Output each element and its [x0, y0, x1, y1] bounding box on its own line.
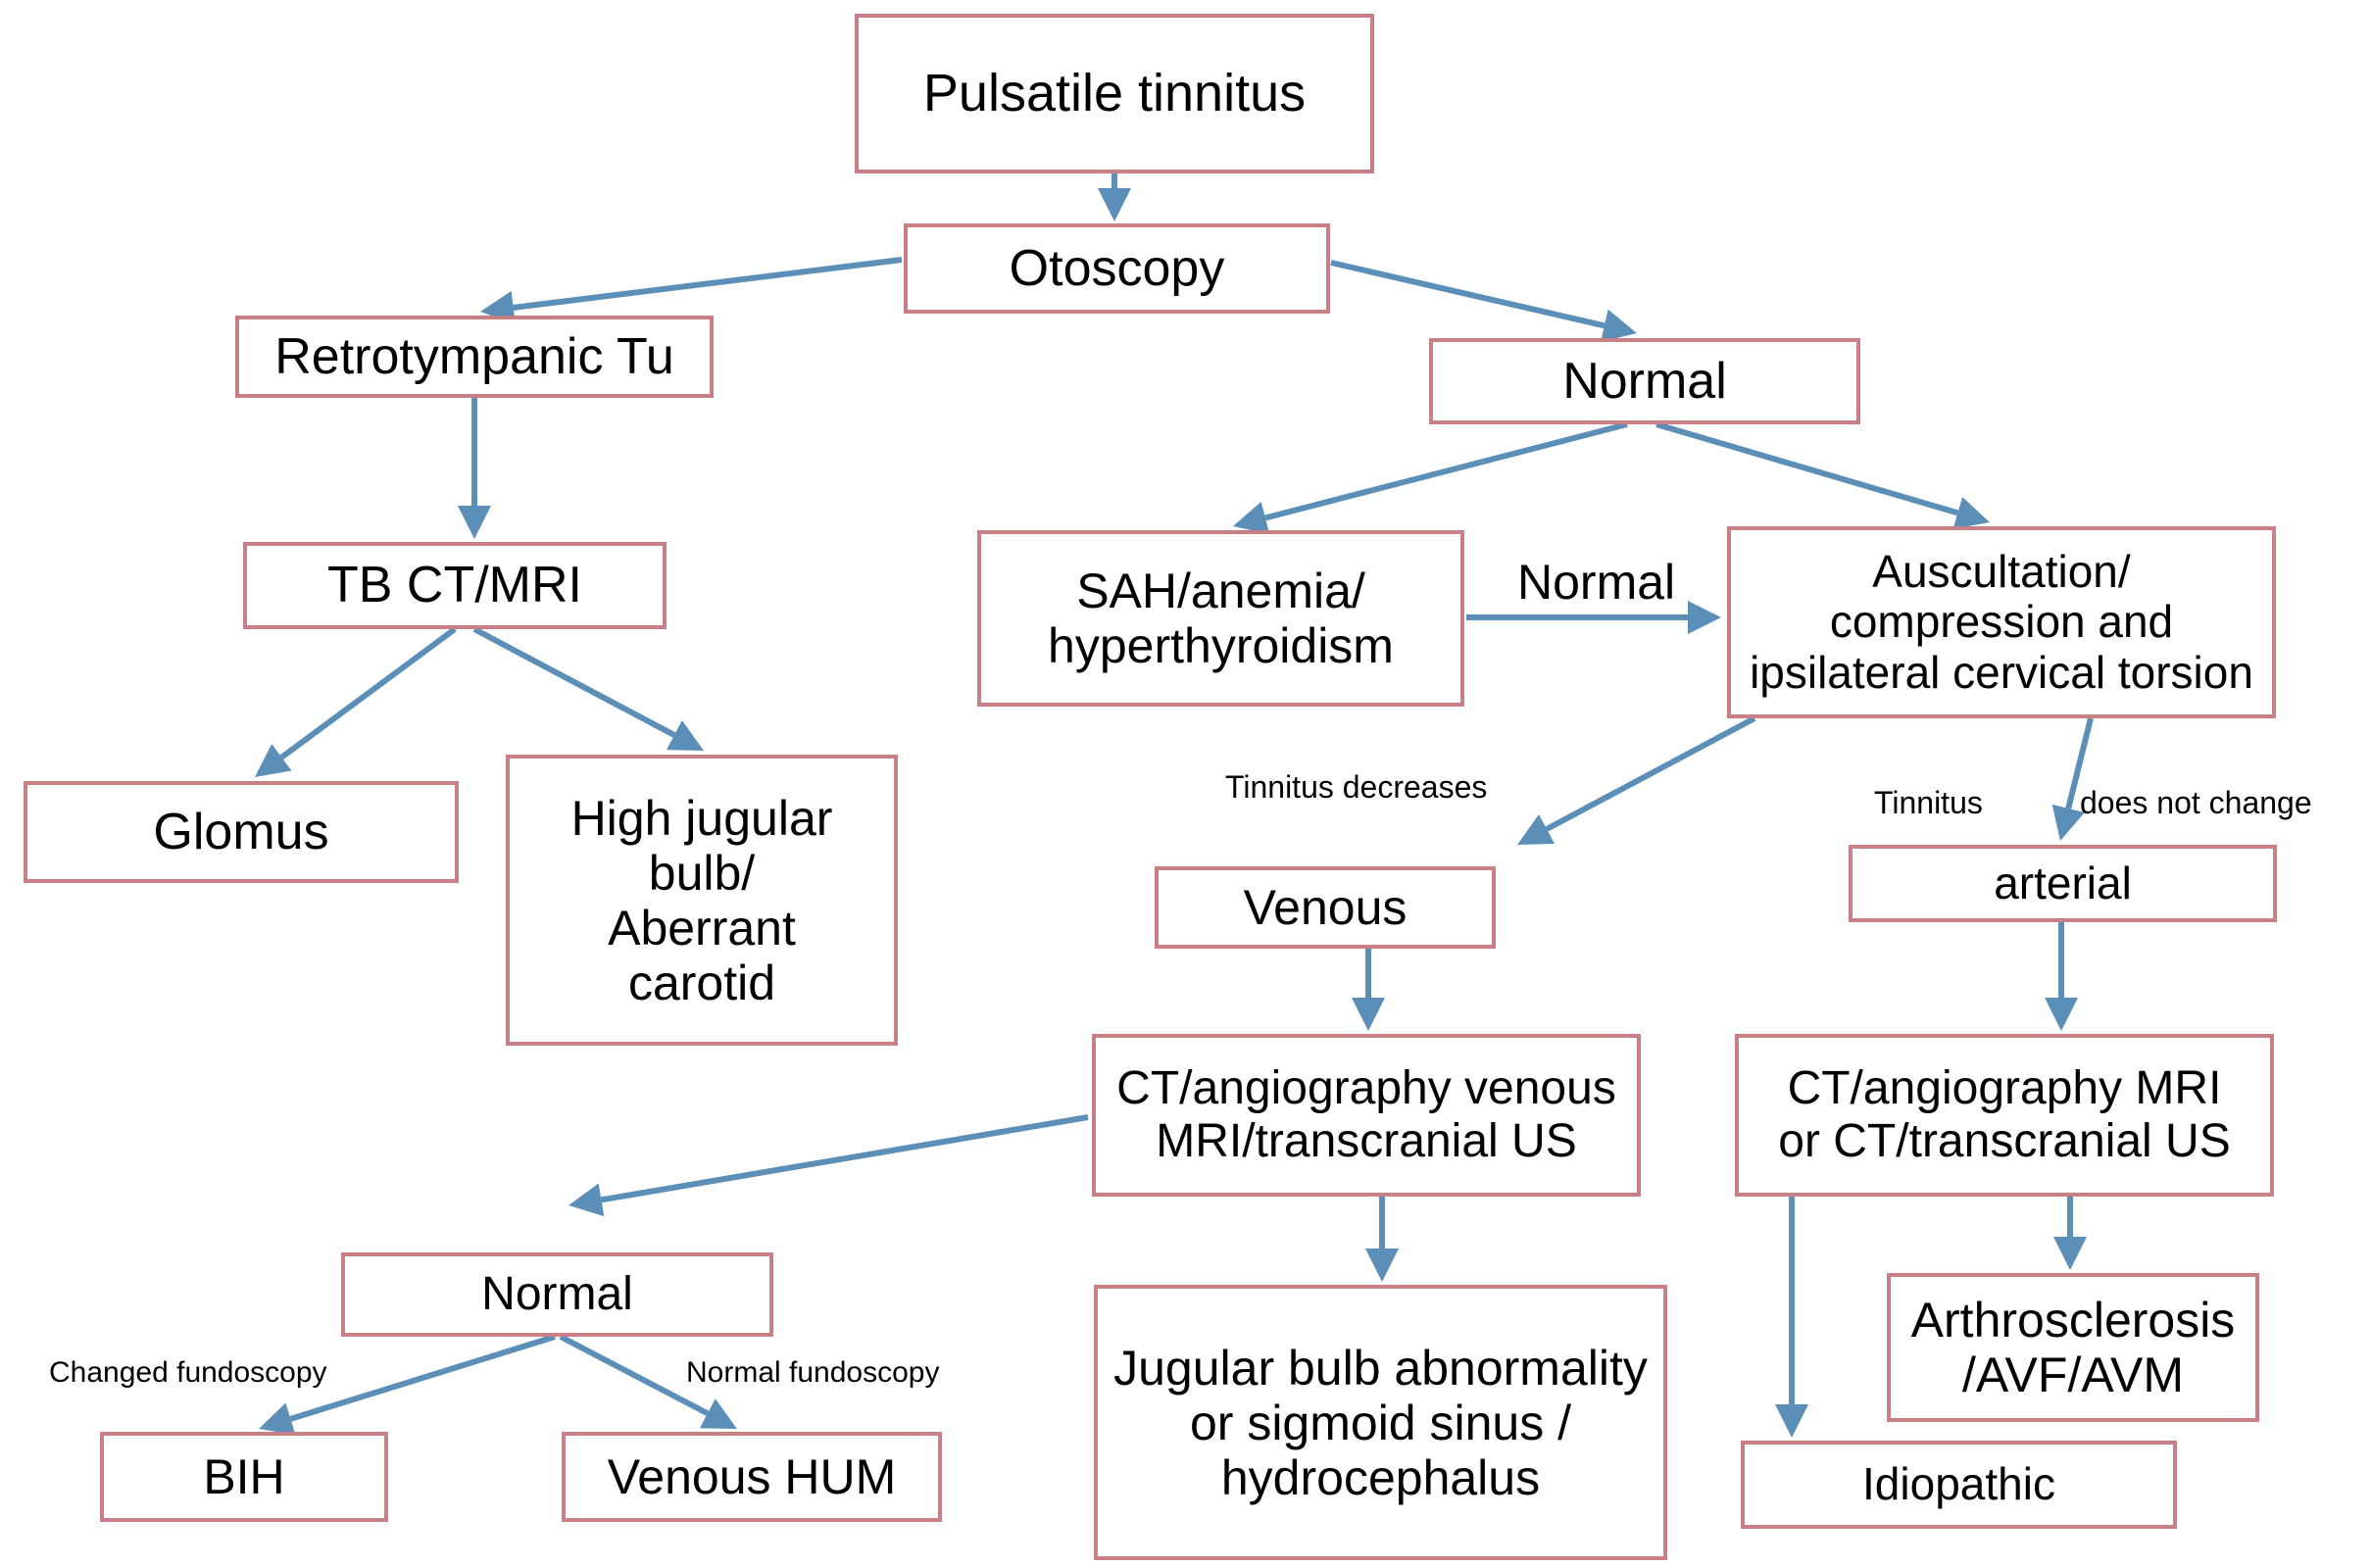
node-label: Venous: [1244, 880, 1408, 935]
node-label: Normal: [1562, 353, 1727, 410]
node-retrotympanic_tu[interactable]: Retrotympanic Tu: [235, 316, 714, 398]
node-ct_angio_arterial[interactable]: CT/angiography MRI or CT/transcranial US: [1735, 1034, 2274, 1197]
flow-arrow: [1775, 1197, 1808, 1438]
edge-label-changed_fundoscopy: Changed fundoscopy: [49, 1356, 327, 1390]
node-label: BIH: [203, 1449, 284, 1504]
edge-label-normal_mid: Normal: [1517, 554, 1675, 611]
flow-arrow: [568, 1117, 1088, 1216]
edge-label-normal_fundoscopy: Normal fundoscopy: [686, 1356, 939, 1390]
node-label: TB CT/MRI: [327, 557, 582, 613]
flow-arrow: [1517, 718, 1754, 845]
node-label: SAH/anemia/ hyperthyroidism: [1048, 563, 1394, 673]
node-normal_otoscopy[interactable]: Normal: [1429, 338, 1860, 424]
node-arterial[interactable]: arterial: [1849, 845, 2277, 922]
flow-arrow: [458, 398, 491, 539]
flowchart-canvas: Pulsatile tinnitusOtoscopyRetrotympanic …: [0, 0, 2371, 1568]
node-label: Normal: [481, 1268, 633, 1321]
flow-arrow: [2053, 1197, 2087, 1270]
flow-arrow: [1352, 949, 1385, 1031]
node-label: Auscultation/ compression and ipsilatera…: [1750, 547, 2253, 699]
node-ct_angio_venous[interactable]: CT/angiography venous MRI/transcranial U…: [1092, 1034, 1641, 1197]
node-label: CT/angiography MRI or CT/transcranial US: [1778, 1062, 2230, 1168]
node-label: Arthrosclerosis /AVF/AVM: [1911, 1293, 2236, 1402]
node-normal_venous[interactable]: Normal: [341, 1252, 773, 1337]
node-label: Idiopathic: [1862, 1459, 2055, 1510]
node-auscultation[interactable]: Auscultation/ compression and ipsilatera…: [1727, 526, 2276, 718]
node-high_jugular_bulb[interactable]: High jugular bulb/ Aberrant carotid: [506, 755, 898, 1046]
node-venous_hum[interactable]: Venous HUM: [562, 1432, 942, 1522]
flow-arrow: [1233, 424, 1627, 534]
node-label: arterial: [1994, 858, 2132, 909]
node-sah_anemia_hyperthyroidism[interactable]: SAH/anemia/ hyperthyroidism: [977, 530, 1464, 707]
node-glomus[interactable]: Glomus: [24, 781, 459, 883]
edge-label-tinnitus: Tinnitus: [1874, 785, 1983, 821]
node-label: High jugular bulb/ Aberrant carotid: [571, 791, 833, 1010]
flow-arrow: [1365, 1197, 1399, 1282]
node-tb_ct_mri[interactable]: TB CT/MRI: [243, 542, 667, 629]
node-label: Retrotympanic Tu: [274, 328, 674, 385]
node-pulsatile_tinnitus[interactable]: Pulsatile tinnitus: [855, 14, 1374, 173]
node-otoscopy[interactable]: Otoscopy: [904, 223, 1330, 314]
node-label: Venous HUM: [608, 1449, 897, 1504]
node-idiopathic[interactable]: Idiopathic: [1741, 1441, 2177, 1529]
node-jugular_bulb_abnormality[interactable]: Jugular bulb abnormality or sigmoid sinu…: [1094, 1285, 1667, 1560]
node-venous[interactable]: Venous: [1155, 866, 1496, 949]
edge-label-tinnitus_decreases: Tinnitus decreases: [1225, 769, 1487, 806]
flow-arrow: [1098, 173, 1131, 221]
node-label: Pulsatile tinnitus: [923, 64, 1306, 122]
edge-label-does_not_change: does not change: [2080, 785, 2312, 821]
flow-arrow: [1656, 424, 1990, 529]
node-bih[interactable]: BIH: [100, 1432, 388, 1522]
node-label: Otoscopy: [1010, 240, 1225, 297]
flow-arrow: [2052, 718, 2091, 841]
flow-arrow: [2045, 922, 2078, 1031]
node-arthrosclerosis[interactable]: Arthrosclerosis /AVF/AVM: [1887, 1273, 2259, 1422]
node-label: Glomus: [153, 804, 328, 860]
flow-arrow: [474, 629, 704, 751]
flow-arrow: [480, 260, 902, 324]
node-label: Jugular bulb abnormality or sigmoid sinu…: [1113, 1341, 1648, 1505]
flow-arrow: [255, 629, 455, 777]
node-label: CT/angiography venous MRI/transcranial U…: [1116, 1062, 1616, 1168]
flow-arrow: [1331, 263, 1637, 342]
